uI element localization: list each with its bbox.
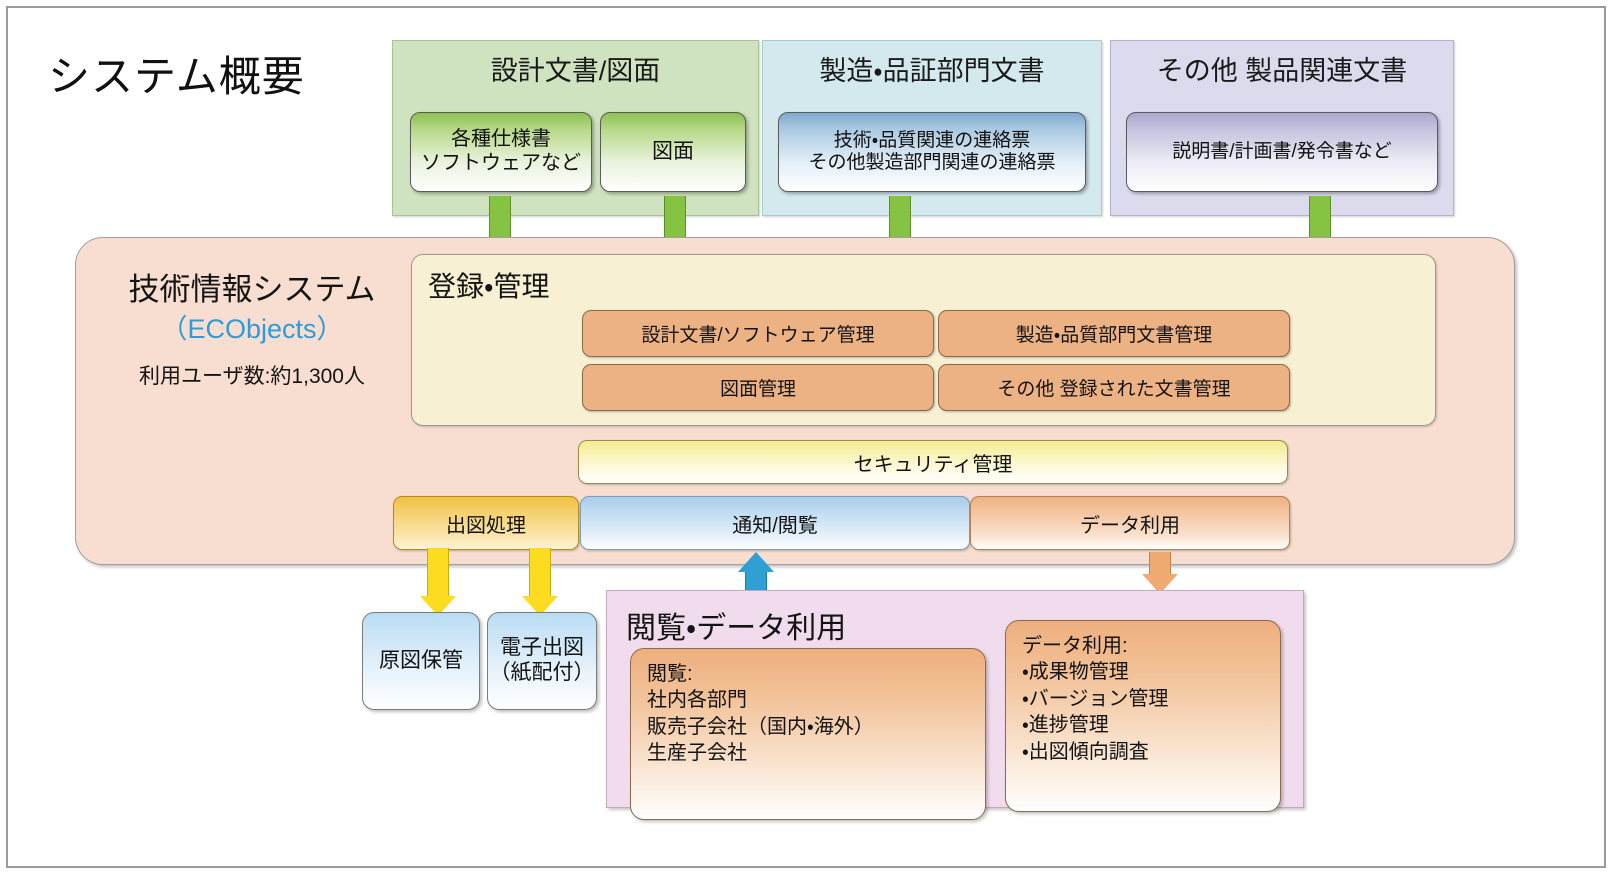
arrow-usage-to-notification-icon [738, 552, 774, 594]
source-panel-other-product-documents-title: その他 製品関連文書 [1111, 49, 1453, 88]
output-box-original-drawing-storage[interactable]: 原図保管 [362, 612, 480, 710]
registration-panel-title: 登録・管理 [428, 265, 550, 305]
page-title: システム概要 [48, 38, 388, 108]
system-subtitle: （ECObjects） [92, 307, 412, 346]
arrow-data-use-to-usage-icon [1142, 552, 1178, 594]
function-box-issue-processing[interactable]: 出図処理 [393, 496, 579, 550]
source-box-drawings[interactable]: 図面 [600, 112, 746, 192]
registration-box-other-documents[interactable]: その他 登録された文書管理 [938, 364, 1290, 411]
usage-panel-title: 閲覧・データ利用 [626, 603, 846, 647]
registration-box-drawings[interactable]: 図面管理 [582, 364, 934, 411]
source-box-technical-quality-notices[interactable]: 技術・品質関連の連絡票 その他製造部門関連の連絡票 [778, 112, 1086, 192]
source-box-manuals-plans-orders[interactable]: 説明書/計画書/発令書など [1126, 112, 1438, 192]
source-box-specifications[interactable]: 各種仕様書 ソフトウェアなど [410, 112, 592, 192]
source-panel-design-documents-title: 設計文書/図面 [393, 49, 758, 88]
function-box-notification-viewing[interactable]: 通知/閲覧 [580, 496, 970, 550]
registration-box-manufacturing-quality[interactable]: 製造・品質部門文書管理 [938, 310, 1290, 357]
output-box-electronic-issue[interactable]: 電子出図 （紙配付） [487, 612, 597, 710]
security-management-bar[interactable]: セキュリティ管理 [578, 440, 1288, 484]
arrow-issue-to-electronic-issue-icon [522, 548, 558, 616]
usage-box-data-utilization[interactable]: データ利用: ・成果物管理 ・バージョン管理 ・進捗管理 ・出図傾向調査 [1005, 620, 1281, 812]
source-panel-manufacturing-documents-title: 製造・品証部門文書 [763, 49, 1101, 88]
diagram-canvas: システム概要 設計文書/図面 各種仕様書 ソフトウェアなど 図面 製造・品証部門… [0, 0, 1620, 880]
function-box-data-utilization[interactable]: データ利用 [970, 496, 1290, 550]
usage-box-viewing[interactable]: 閲覧: 社内各部門 販売子会社（国内・海外） 生産子会社 [630, 648, 986, 820]
arrow-issue-to-original-storage-icon [420, 548, 456, 616]
system-user-count: 利用ユーザ数:約1,300人 [92, 360, 412, 390]
system-name: 技術情報システム [92, 264, 412, 309]
registration-box-design-software[interactable]: 設計文書/ソフトウェア管理 [582, 310, 934, 357]
